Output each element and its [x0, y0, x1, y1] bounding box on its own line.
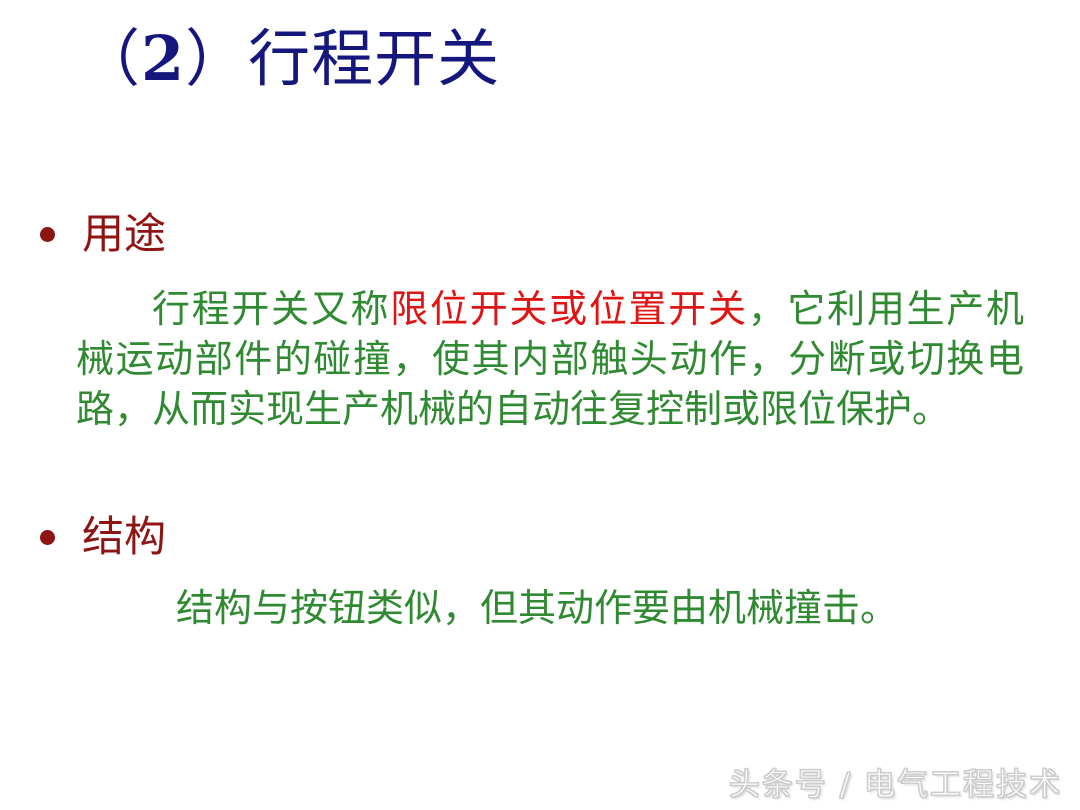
bullet-item-structure: 结构 — [40, 516, 166, 558]
title-paren-open: （ — [78, 22, 141, 95]
bullet-dot-icon — [40, 530, 55, 545]
watermark: 头条号 / 电气工程技术 — [729, 768, 1062, 802]
page-title: （2）行程开关 — [78, 26, 500, 93]
title-number: 2 — [141, 22, 185, 95]
paragraph-structure: 结构与按钮类似，但其动作要由机械撞击。 — [76, 583, 1024, 633]
usage-text-highlight: 限位开关或位置开关 — [390, 287, 747, 331]
title-main-text: 行程开关 — [248, 22, 500, 95]
usage-text-part-1: 行程开关又称 — [152, 287, 390, 331]
paragraph-usage: 行程开关又称限位开关或位置开关，它利用生产机械运动部件的碰撞，使其内部触头动作，… — [76, 284, 1024, 434]
bullet-item-usage: 用途 — [40, 213, 166, 255]
bullet-dot-icon — [40, 227, 55, 242]
title-paren-close: ） — [185, 22, 248, 95]
bullet-label-usage: 用途 — [82, 213, 166, 255]
bullet-label-structure: 结构 — [82, 516, 166, 558]
slide-canvas: （2）行程开关 用途 行程开关又称限位开关或位置开关，它利用生产机械运动部件的碰… — [0, 0, 1080, 810]
